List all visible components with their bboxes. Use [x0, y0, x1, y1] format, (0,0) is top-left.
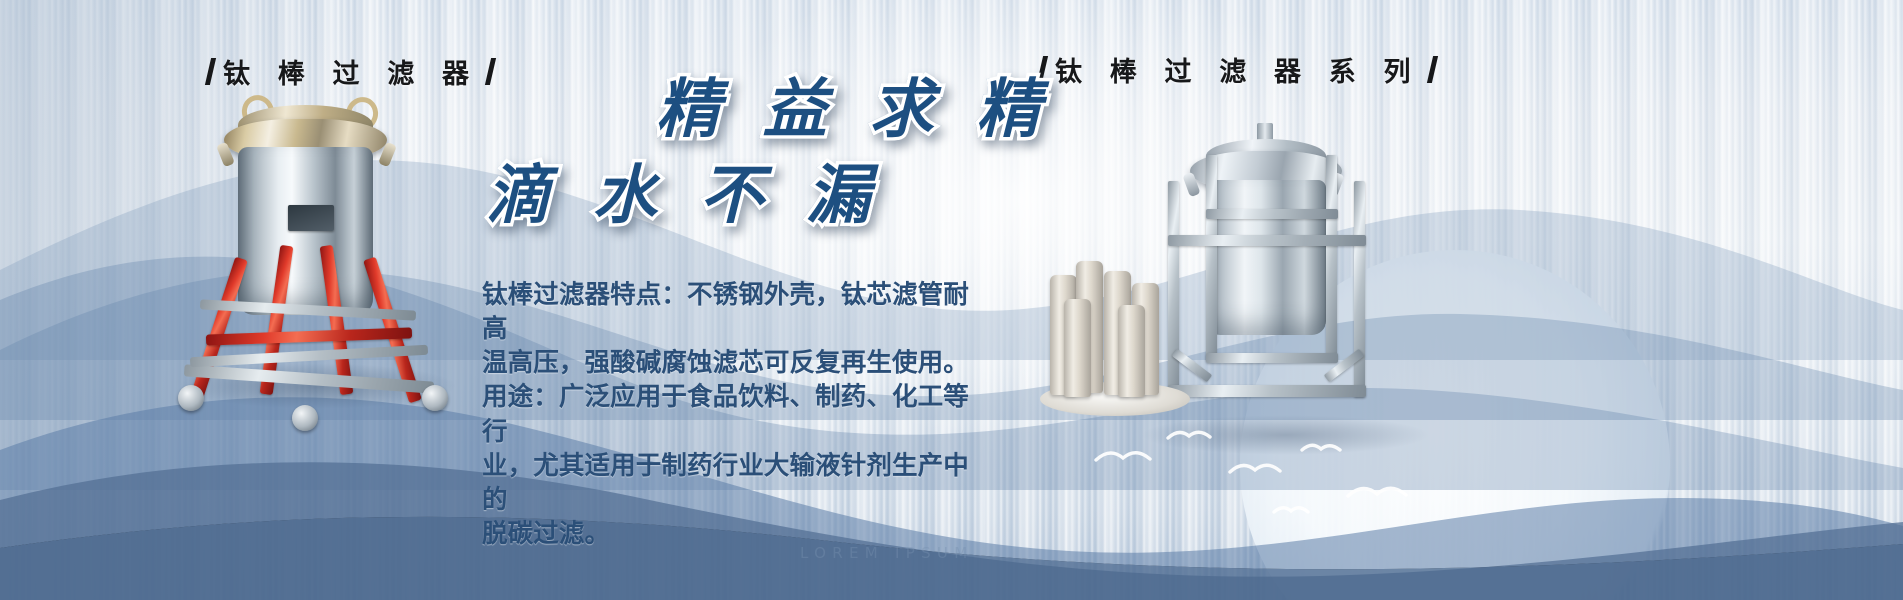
frame-rail — [1206, 209, 1338, 219]
frame-base-rail — [1206, 353, 1338, 363]
titanium-cartridge — [1118, 305, 1145, 397]
section-label-right-text: 钛 棒 过 滤 器 系 列 — [1055, 50, 1420, 89]
section-label-right: 钛 棒 过 滤 器 系 列 — [1040, 50, 1435, 89]
description-line-3: 用途：广泛应用于食品饮料、制药、化工等行 — [482, 380, 987, 448]
headline-line-2: 滴 水 不 漏 — [486, 164, 1030, 228]
headline-line-1: 精 益 求 精 — [656, 78, 1030, 142]
cart-leg — [189, 257, 248, 404]
description-line-2: 温高压，强酸碱腐蚀滤芯可反复再生使用。 — [482, 346, 987, 380]
product-left-cart-frame — [160, 245, 470, 420]
product-image-right — [1010, 85, 1440, 460]
headline-block: 精 益 求 精 滴 水 不 漏 — [470, 78, 1030, 228]
vessel-body — [1206, 180, 1326, 335]
cart-wheel — [178, 385, 204, 411]
cart-leg — [320, 245, 354, 395]
cart-rail — [184, 364, 434, 393]
frame-base-rail — [1168, 385, 1366, 397]
cart-cross-brace — [206, 327, 412, 345]
frame-post — [1206, 155, 1217, 361]
cart-rail — [190, 345, 428, 367]
product-image-left — [160, 95, 470, 420]
titanium-cartridge — [1064, 299, 1091, 397]
section-label-left: 钛 棒 过 滤 器 — [208, 52, 493, 91]
vessel-nameplate — [288, 205, 334, 231]
frame-post — [1326, 155, 1337, 361]
watermark-text: LOREM IPSUM — [800, 544, 973, 562]
description-line-4: 业，尤其适用于制药行业大输液针剂生产中的 — [482, 449, 987, 517]
cart-wheel — [422, 385, 448, 411]
description-line-1: 钛棒过滤器特点：不锈钢外壳，钛芯滤管耐高 — [482, 278, 987, 346]
frame-post — [1168, 181, 1179, 397]
frame-rail — [1168, 235, 1366, 246]
section-label-left-text: 钛 棒 过 滤 器 — [223, 52, 478, 91]
cart-wheel — [292, 405, 318, 431]
flying-birds-decoration — [1090, 420, 1430, 530]
frame-post — [1354, 181, 1365, 397]
description-paragraph: 钛棒过滤器特点：不锈钢外壳，钛芯滤管耐高 温高压，强酸碱腐蚀滤芯可反复再生使用。… — [482, 278, 987, 551]
product-banner: 钛 棒 过 滤 器 钛 棒 过 滤 器 系 列 精 益 求 精 滴 水 不 漏 … — [0, 0, 1903, 600]
